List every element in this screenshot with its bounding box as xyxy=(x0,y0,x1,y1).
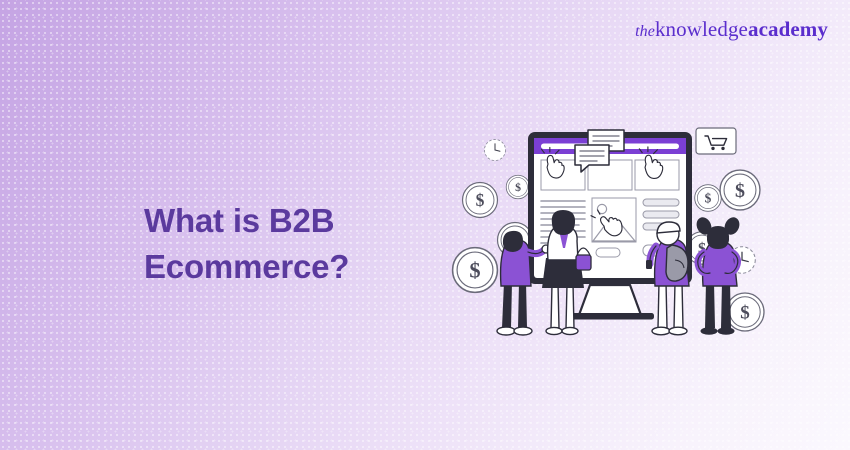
brand-logo[interactable]: theknowledgeacademy xyxy=(635,17,828,42)
dollar-coin-icon xyxy=(463,183,498,218)
dollar-coin-icon xyxy=(506,175,530,199)
logo-word-the: the xyxy=(635,23,655,40)
banner: theknowledgeacademy What is B2B Ecommerc… xyxy=(0,0,850,450)
shopping-cart-icon xyxy=(696,128,736,154)
logo-word-knowledge: knowledge xyxy=(655,17,748,41)
headline-line-2: Ecommerce? xyxy=(144,244,474,290)
dollar-coin-icon xyxy=(695,185,722,212)
headline-line-1: What is B2B xyxy=(144,202,334,239)
page-title: What is B2B Ecommerce? xyxy=(144,198,474,289)
illustration: $ xyxy=(440,100,780,350)
dollar-coin-icon xyxy=(453,248,498,293)
dollar-coin-icon xyxy=(720,170,760,210)
logo-word-academy: academy xyxy=(748,17,828,41)
dollar-coin-icon xyxy=(726,293,764,331)
